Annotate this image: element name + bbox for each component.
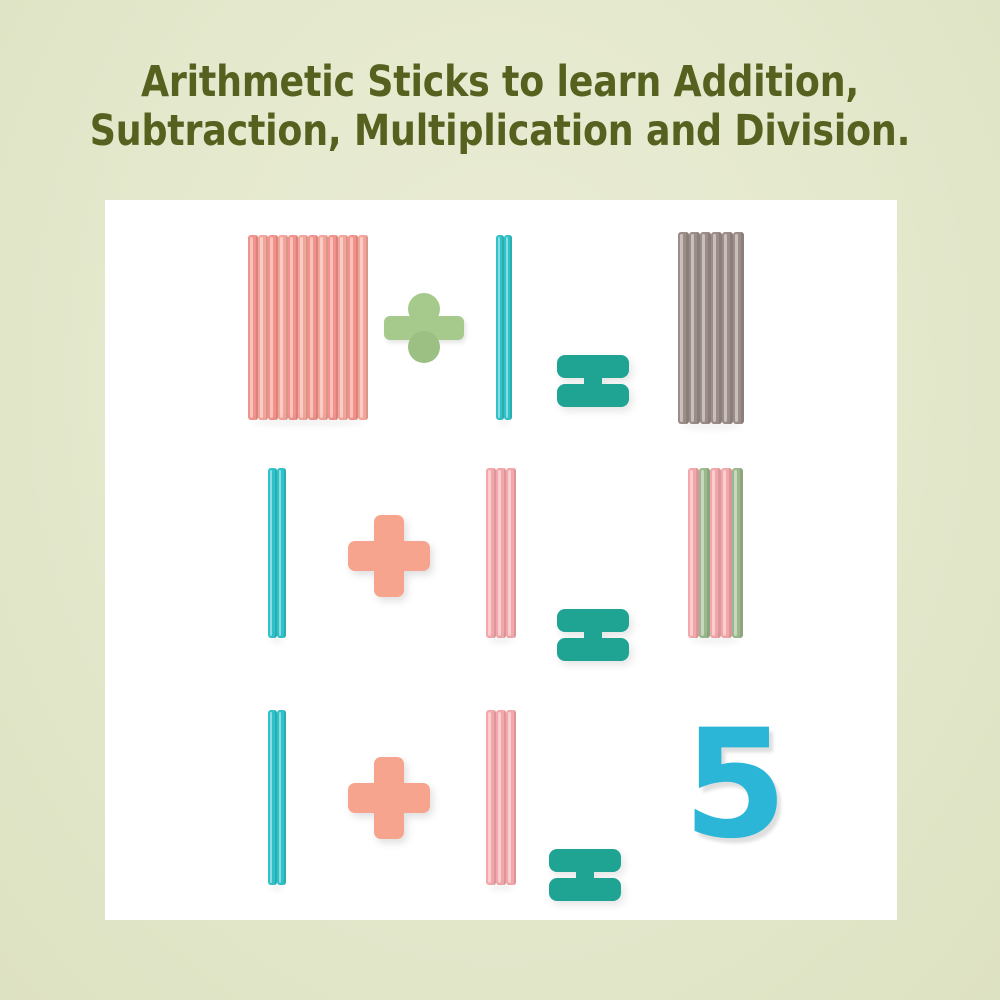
title-line-2: Subtraction, Multiplication and Division…	[30, 107, 970, 156]
plus-horizontal-bar	[348, 783, 430, 813]
bundle-shadow	[499, 418, 509, 426]
stick-bundle-five-mixed	[688, 468, 743, 638]
equals-bar-bottom	[549, 878, 621, 901]
bundle-shadow	[691, 636, 740, 644]
number-five-tile: 5	[683, 710, 813, 870]
bundle-shadow	[489, 883, 513, 891]
bundle-shadow	[271, 636, 283, 644]
plus-sign-icon	[348, 757, 430, 839]
equals-bar-bottom	[557, 384, 629, 407]
stick-bundle-twelve-pink	[248, 235, 368, 420]
stick-bundle-three-rose	[486, 710, 516, 885]
equals-sign-icon	[557, 355, 629, 407]
division-dot-bottom	[408, 331, 440, 363]
stick-bundle-two-teal	[268, 468, 286, 638]
bundle-shadow	[251, 418, 365, 426]
stick-bundle-three-rose	[486, 468, 516, 638]
equation-row-addition-sticks	[105, 450, 897, 680]
stick-bundle-two-teal	[496, 235, 512, 420]
equals-sign-icon	[557, 609, 629, 661]
number-five-glyph: 5	[683, 698, 783, 872]
stick-bundle-six-gray	[678, 232, 744, 424]
title-line-1: Arithmetic Sticks to learn Addition,	[30, 58, 970, 107]
bundle-shadow	[681, 422, 741, 430]
poster-canvas: Arithmetic Sticks to learn Addition, Sub…	[0, 0, 1000, 1000]
division-sign-icon	[384, 303, 464, 353]
plus-horizontal-bar	[348, 541, 430, 571]
equation-row-addition-number: 5	[105, 695, 897, 920]
equals-bar-bottom	[557, 638, 629, 661]
bundle-shadow	[271, 883, 283, 891]
bundle-shadow	[489, 636, 513, 644]
page-title: Arithmetic Sticks to learn Addition, Sub…	[0, 58, 1000, 156]
equals-sign-icon	[549, 849, 621, 901]
equation-row-division	[105, 200, 897, 440]
plus-sign-icon	[348, 515, 430, 597]
product-photo-panel: 5	[105, 200, 897, 920]
stick-bundle-two-teal	[268, 710, 286, 885]
